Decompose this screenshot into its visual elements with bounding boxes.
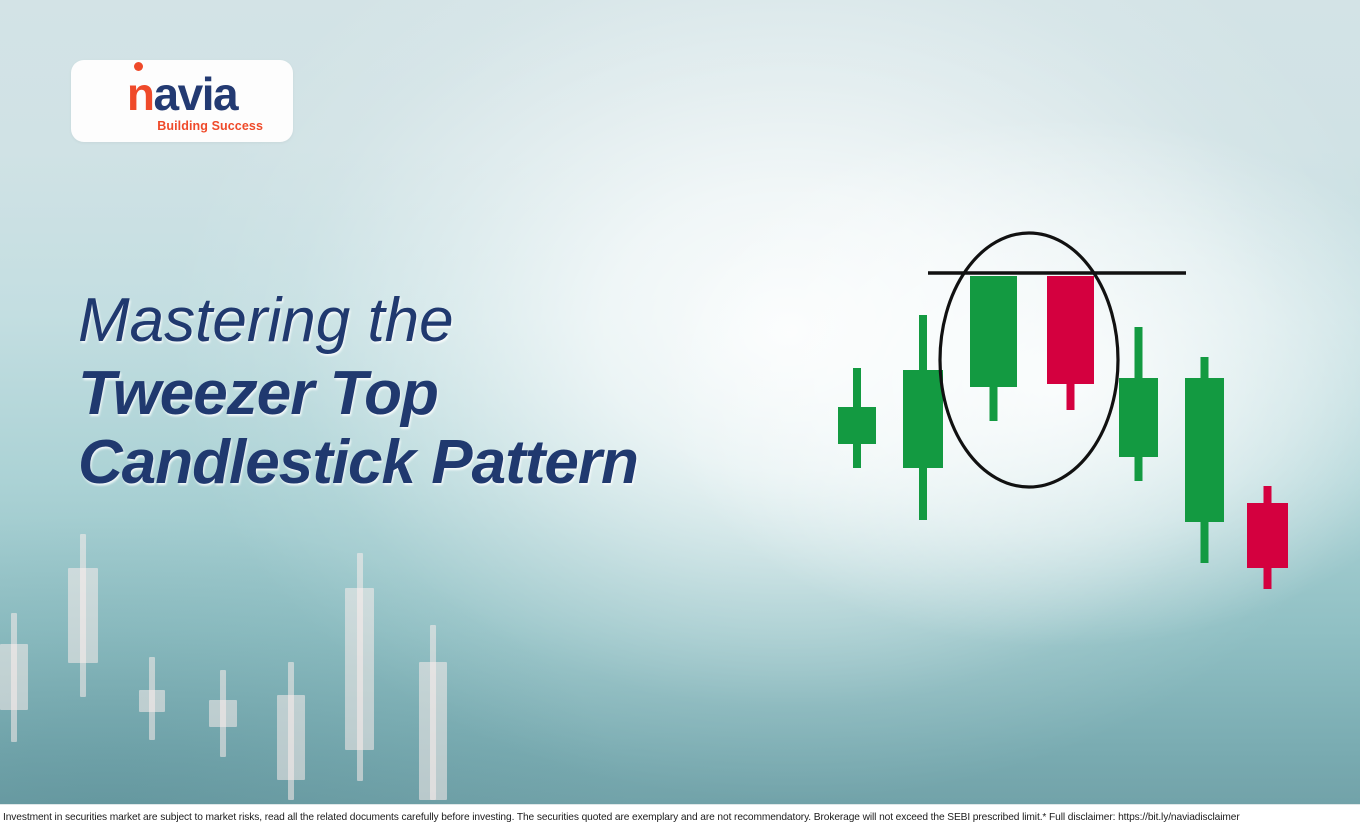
logo-wordmark: navia [127,71,237,117]
navia-logo[interactable]: navia Building Success [71,60,293,142]
page-title: Mastering the Tweezer Top Candlestick Pa… [78,288,868,497]
ghost-candle-body [419,662,447,800]
ghost-candle-body [277,695,305,780]
disclaimer-text: Investment in securities market are subj… [0,812,1240,823]
logo-dot-icon [134,62,143,71]
logo-letters-avia: avia [154,68,238,120]
disclaimer-bar: Investment in securities market are subj… [0,804,1360,830]
logo-letter-n: n [127,68,154,120]
ghost-candle-body [345,588,374,750]
ghost-candle-body [209,700,237,727]
ghost-candle-body [139,690,165,712]
ghost-candle-body [0,644,28,710]
ghost-candle-body [68,568,98,663]
headline-line-3: Candlestick Pattern [78,430,868,497]
headline-line-2: Tweezer Top [78,361,868,428]
logo-tagline: Building Success [157,119,263,133]
headline-line-1: Mastering the [78,288,868,355]
